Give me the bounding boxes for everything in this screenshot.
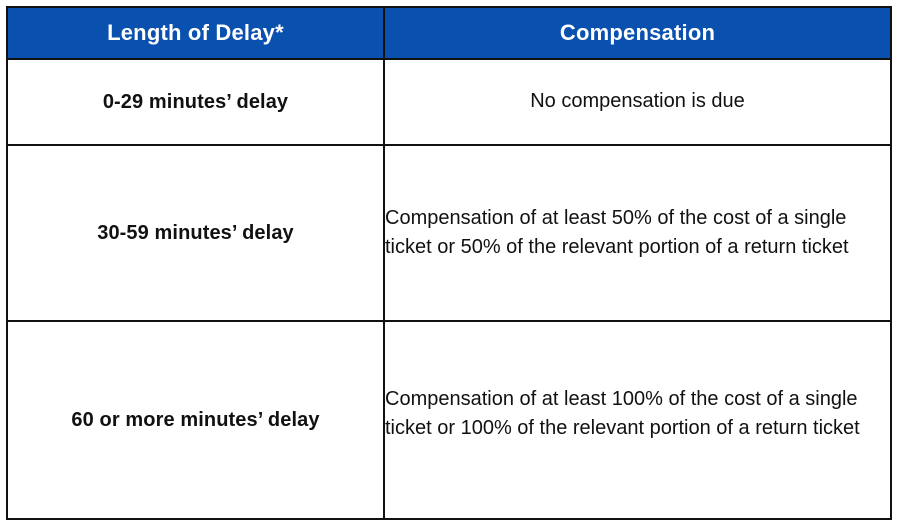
- cell-delay-2: 60 or more minutes’ delay: [7, 321, 384, 519]
- cell-compensation-0: No compensation is due: [384, 59, 891, 145]
- compensation-table-container: Length of Delay* Compensation 0-29 minut…: [6, 6, 890, 518]
- table-body: 0-29 minutes’ delay No compensation is d…: [7, 59, 891, 519]
- cell-delay-0: 0-29 minutes’ delay: [7, 59, 384, 145]
- cell-compensation-0-text: No compensation is due: [395, 87, 880, 116]
- delay-compensation-table: Length of Delay* Compensation 0-29 minut…: [6, 6, 892, 520]
- cell-compensation-1-text: Compensation of at least 50% of the cost…: [385, 207, 849, 258]
- table-row: 0-29 minutes’ delay No compensation is d…: [7, 59, 891, 145]
- table-header: Length of Delay* Compensation: [7, 7, 891, 59]
- cell-compensation-2-text: Compensation of at least 100% of the cos…: [385, 385, 890, 444]
- cell-compensation-1: Compensation of at least 50% of the cost…: [384, 145, 891, 321]
- column-header-length-of-delay: Length of Delay*: [7, 7, 384, 59]
- table-header-row: Length of Delay* Compensation: [7, 7, 891, 59]
- cell-delay-1: 30-59 minutes’ delay: [7, 145, 384, 321]
- column-header-compensation: Compensation: [384, 7, 891, 59]
- table-row: 60 or more minutes’ delay Compensation o…: [7, 321, 891, 519]
- cell-compensation-2: Compensation of at least 100% of the cos…: [384, 321, 891, 519]
- table-row: 30-59 minutes’ delay Compensation of at …: [7, 145, 891, 321]
